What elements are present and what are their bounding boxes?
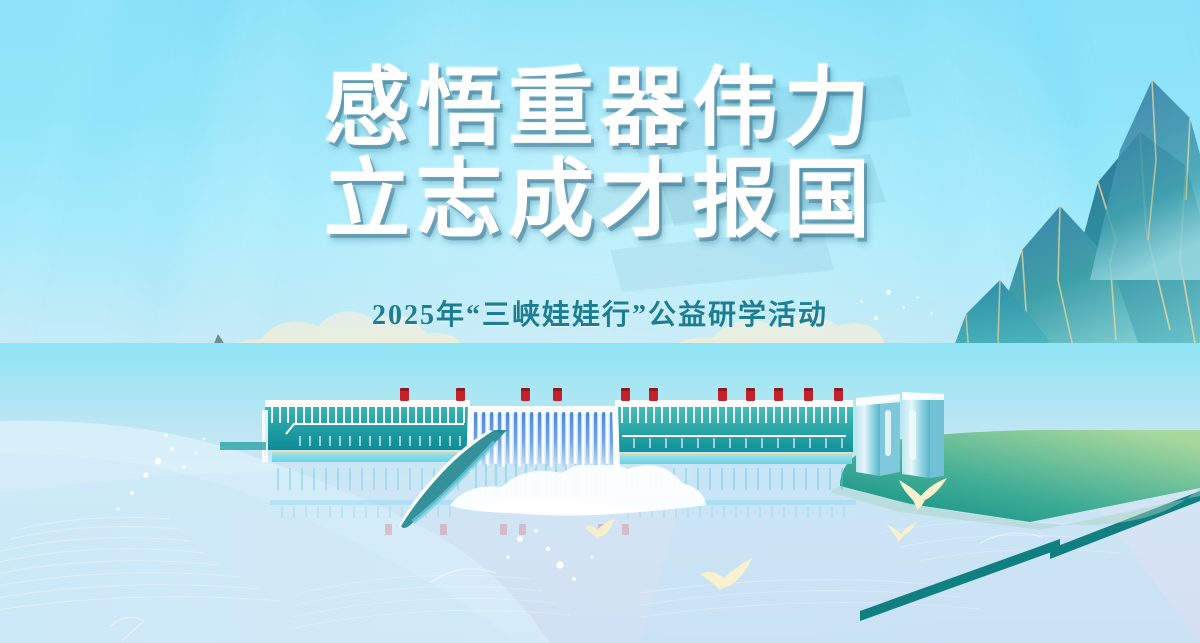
- bird-swallow: [700, 556, 756, 596]
- sparkle-dot: [886, 290, 891, 295]
- bird-swallow: [885, 518, 919, 542]
- sparkle-dot: [930, 312, 933, 315]
- bird-swallow: [895, 472, 951, 512]
- sparkle-dot: [916, 296, 919, 299]
- poster-banner: 感悟重器伟力 立志成才报国 2025年“三峡娃娃行”公益研学活动: [0, 0, 1200, 643]
- mountain-far-right: [1090, 60, 1200, 280]
- sparkle-dot: [860, 300, 863, 303]
- sparkle-dot: [874, 316, 878, 320]
- flag-markers: [400, 388, 843, 401]
- sparkle-dot: [902, 306, 905, 309]
- jetty-curve: [395, 430, 525, 530]
- bird-swallow: [585, 514, 619, 540]
